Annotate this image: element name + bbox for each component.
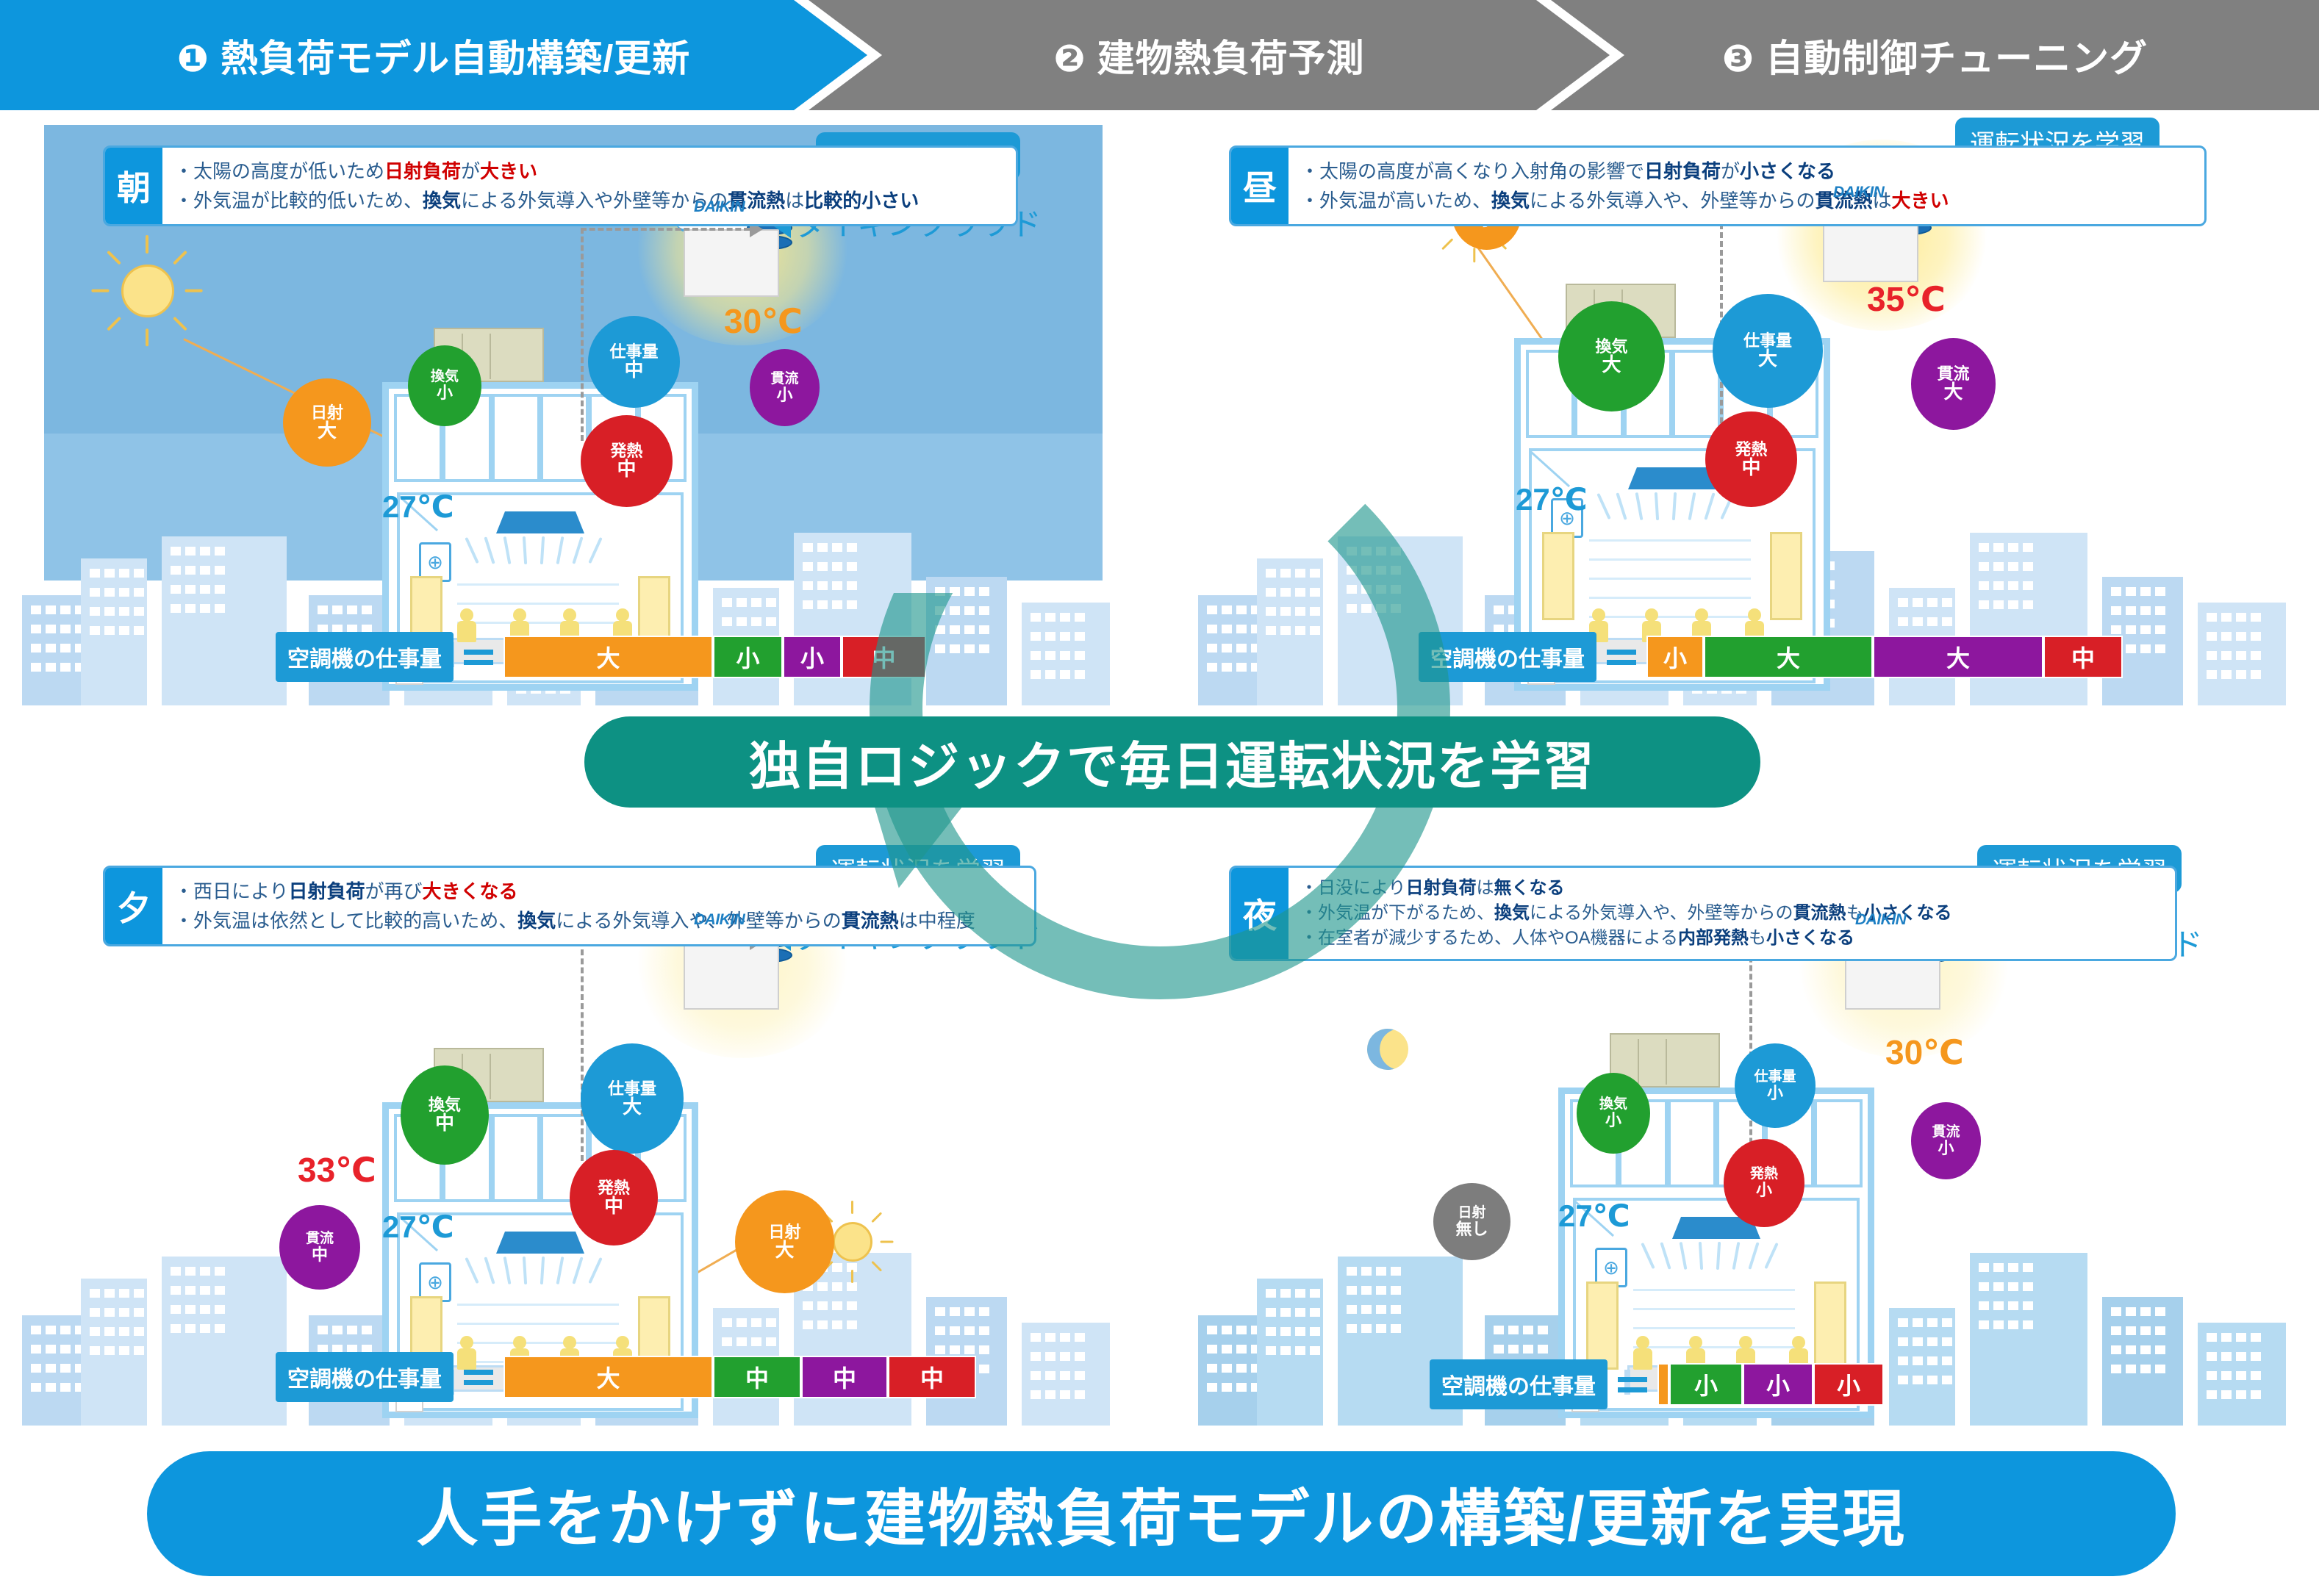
building-silhouette [81,1279,147,1426]
window-dot [134,569,144,578]
shelf-line [1589,597,1751,599]
workbar-segment: 中 [888,1356,976,1398]
window-dot [318,605,328,614]
window-dot [1361,1286,1372,1295]
outdoor-temperature: 33℃ [298,1150,376,1190]
badge-日射: 日射大 [735,1190,834,1293]
airflow-line [1596,493,1610,520]
airflow-line [484,536,495,564]
window-dot [803,562,813,571]
window-dot [2155,1307,2165,1316]
window-dot [817,1320,828,1329]
window-dot [1979,562,1989,571]
airflow-line [572,536,583,564]
window-dot [2023,543,2033,552]
window-pane [492,394,540,482]
building-silhouette [81,558,147,705]
bookshelf-icon [1589,539,1751,628]
window-dot [832,543,842,552]
window-dot [2155,625,2165,634]
window-dot [1898,1356,1908,1365]
window-dot [1979,543,1989,552]
window-dot [1347,1267,1357,1276]
window-dot [200,585,210,594]
window-dot [950,1326,960,1335]
window-dot [119,1308,129,1317]
window-dot [2207,1390,2217,1399]
window-dot [46,663,56,672]
workbar-segment: 中 [713,1356,801,1398]
person-head [1689,1336,1702,1349]
window-dot [134,1327,144,1336]
badge-仕事量: 仕事量小 [1735,1043,1816,1128]
equals-icon [458,1370,499,1385]
daikin-logo: DAIKIN [1855,911,1906,929]
description-segment: が [461,160,480,182]
window-dot [1207,1383,1217,1392]
window-dot [1266,1346,1276,1355]
window-dot [847,562,857,571]
window-dot [803,581,813,590]
window-dot [2023,1301,2033,1310]
window-dot [119,607,129,616]
description-segment: 無くなる [1494,878,1565,898]
window-dot [31,1364,41,1373]
window-dot [2111,1307,2121,1316]
window-dot [2236,613,2246,622]
badge-name: 発熱 [598,1179,630,1196]
window-dot [1993,1263,2004,1272]
window-dot [1942,617,1952,626]
window-dot [1361,1305,1372,1314]
workbar-segment: 小 [1646,636,1704,678]
description-segment: は [1477,878,1494,898]
window-dot [2126,644,2136,653]
window-dot [60,663,71,672]
window-dot [185,604,196,613]
window-dot [1207,1364,1217,1373]
window-dot [1376,1286,1386,1295]
ceiling-ac-unit-icon [496,1232,584,1254]
window-dot [90,569,100,578]
airflow-line [588,1257,602,1284]
indoor-temperature: 27℃ [382,1209,454,1245]
window-dot [722,1337,732,1346]
shelf-line [1633,1346,1795,1348]
window-dot [1295,1346,1305,1355]
window-dot [171,1267,181,1276]
window-pane [1814,1099,1863,1187]
equals-icon [1601,650,1642,665]
building-silhouette [1257,1279,1323,1426]
description-morning: ・太陽の高度が低いため日射負荷が大きい・外気温が比較的低いため、換気による外気導… [162,148,1016,224]
window-dot [2140,587,2151,596]
airflow-line [1616,492,1627,520]
window-dot [185,1267,196,1276]
window-dot [2111,1326,2121,1335]
window-dot [31,663,41,672]
window-dot [1280,1308,1291,1317]
daikin-logo: DAIKIN [1833,184,1884,201]
window-dot [2221,632,2232,641]
sun-icon [88,231,207,351]
airflow-lines-icon [470,1257,610,1286]
description-segment: が [1721,160,1740,182]
window-dot [979,1326,989,1335]
window-dot [200,1286,210,1295]
window-dot [60,1383,71,1392]
window-dot [1391,1286,1401,1295]
window-dot [2155,606,2165,615]
window-dot [185,1324,196,1333]
step-1[interactable]: ❶ 熱負荷モデル自動構築/更新 [0,0,867,110]
window-dot [200,547,210,556]
window-dot [362,605,372,614]
window-dot [1913,598,1923,607]
step-2[interactable]: ❷ 建物熱負荷予測 [809,0,1610,110]
window-dot [90,1327,100,1336]
workbar-segment: 中 [801,1356,888,1398]
description-segment: 日射負荷 [384,160,461,182]
window-dot [1347,1305,1357,1314]
airflow-line [1641,1243,1655,1269]
daikin-controller-icon [684,942,779,1010]
window-dot [2207,632,2217,641]
badge-level: 中 [312,1246,328,1263]
window-dot [1391,1267,1401,1276]
window-dot [832,1301,842,1310]
person-head [563,1336,576,1349]
window-dot [2251,651,2261,660]
description-segment: が再び [365,880,423,902]
window-dot [1361,1324,1372,1333]
window-dot [104,1308,115,1317]
window-dot [2207,670,2217,679]
window-dot [215,585,225,594]
window-dot [832,1320,842,1329]
window-dot [2207,613,2217,622]
airflow-line [1716,1242,1721,1270]
airflow-line [503,1257,512,1284]
window-dot [2236,1333,2246,1342]
window-dot [104,626,115,635]
badge-換気: 換気小 [1577,1073,1650,1154]
door-left-icon [1586,1282,1619,1370]
window-dot [1979,1263,1989,1272]
window-dot [2008,543,2018,552]
airflow-line [540,1257,545,1284]
badge-level: 小 [1767,1085,1783,1101]
description-segment: 大きい [1892,190,1949,212]
shelf-line [457,622,619,624]
description-segment: ・外気温が高いため、 [1300,190,1491,212]
badge-name: 貫流 [1937,365,1969,382]
description-segment: 小さくなる [1740,160,1835,182]
shelf-line [457,1304,619,1306]
person-head [616,1336,629,1349]
window-dot [46,605,56,614]
description-segment: 小さくなる [1766,928,1854,948]
time-badge-noon: 昼 [1231,148,1288,224]
window-dot [347,1326,357,1334]
window-dot [31,1383,41,1392]
person-head [1792,1336,1805,1349]
badge-level: 小 [1938,1140,1954,1157]
description-segment: 比較的小さい [804,190,919,212]
window-dot [2111,1345,2121,1354]
window-dot [185,1286,196,1295]
window-dot [1979,1301,1989,1310]
person-head [460,1336,473,1349]
window-dot [1942,598,1952,607]
airflow-line [523,1257,527,1284]
window-dot [1280,1327,1291,1336]
window-dot [722,598,732,607]
window-dot [90,1308,100,1317]
window-dot [1927,1337,1938,1346]
window-dot [2140,1365,2151,1373]
center-banner-label: 独自ロジックで毎日運転状況を学習 [749,725,1596,799]
description-segment: は [785,190,804,212]
window-dot [2221,613,2232,622]
badge-level: 小 [776,387,792,403]
time-badge-morning: 朝 [105,148,162,224]
window-dot [46,625,56,633]
window-dot [2236,1352,2246,1361]
window-dot [2236,1390,2246,1399]
window-dot [1347,1286,1357,1295]
window-dot [215,604,225,613]
dashed-vertical [581,941,584,1161]
badge-発熱: 発熱中 [1705,411,1797,507]
window-dot [215,1286,225,1295]
airflow-line [1688,492,1696,520]
window-dot [1376,1267,1386,1276]
window-dot [90,1289,100,1298]
window-dot [1538,1326,1548,1334]
person-head [616,608,629,622]
window-dot [60,1326,71,1334]
window-dot [104,569,115,578]
window-dot [2111,587,2121,596]
window-dot [1898,617,1908,626]
window-dot [1913,1318,1923,1327]
badge-日射: 日射大 [283,378,371,467]
outdoor-temperature: 30℃ [724,301,803,341]
building-silhouette [1022,1323,1110,1426]
window-dot [935,1326,945,1335]
description-line: ・太陽の高度が高くなり入射角の影響で日射負荷が小さくなる [1300,157,2193,186]
shelf-line [1633,1327,1795,1329]
window-dot [1207,1345,1217,1354]
process-step-banner: ❶ 熱負荷モデル自動構築/更新 ❷ 建物熱負荷予測 ❸ 自動制御チューニング [0,0,2319,110]
window-dot [2126,587,2136,596]
window-dot [104,607,115,616]
workbar-segment: 小 [1743,1363,1813,1406]
window-dot [847,1301,857,1310]
description-segment: 内部発熱 [1678,928,1749,948]
window-dot [1031,1352,1041,1361]
badge-name: 貫流 [770,372,798,387]
window-dot [2155,1345,2165,1354]
window-dot [1523,1345,1533,1354]
window-dot [134,1308,144,1317]
description-segment: 日射負荷 [1644,160,1721,182]
window-dot [318,1326,328,1334]
window-dot [2251,670,2261,679]
badge-level: 中 [617,459,636,479]
footer-label: 人手をかけずに建物熱負荷モデルの構築/更新を実現 [416,1470,1906,1559]
window-dot [1031,1333,1041,1342]
window-dot [1045,1352,1055,1361]
window-dot [1236,1345,1247,1354]
badge-貫流: 貫流中 [279,1205,360,1290]
window-dot [1075,1352,1085,1361]
window-dot [200,1305,210,1314]
window-dot [171,1305,181,1314]
badge-換気: 換気小 [408,345,481,426]
window-dot [803,1301,813,1310]
window-dot [2140,1326,2151,1335]
workbar-700: 空調機の仕事量小大大中 [1419,632,2123,682]
window-dot [31,605,41,614]
window-dot [1310,1327,1320,1336]
description-segment: による外気導入や、外壁等からの [1530,190,1815,212]
person-head [1592,608,1605,622]
airflow-line [1699,1242,1703,1270]
shelf-line [457,1342,619,1344]
airflow-line [1704,492,1715,520]
workbar-segment: 大 [503,636,713,678]
window-dot [119,569,129,578]
window-dot [2221,1390,2232,1399]
window-dot [1913,1337,1923,1346]
window-dot [1045,1390,1055,1399]
badge-発熱: 発熱小 [1724,1139,1804,1227]
window-dot [185,1305,196,1314]
window-dot [935,1307,945,1316]
description-segment: 貫流熱 [1793,903,1846,923]
window-dot [766,1337,776,1346]
window-dot [2140,644,2151,653]
window-dot [104,588,115,597]
window-dot [736,1318,747,1327]
window-dot [46,1345,56,1354]
window-dot [185,547,196,556]
shelf-line [457,583,619,586]
badge-level: 小 [437,384,453,401]
window-dot [832,600,842,609]
workbar-segment: 大 [503,1356,713,1398]
window-dot [171,604,181,613]
daikin-logo: DAIKIN [694,911,745,929]
person-head [563,608,576,622]
window-dot [2251,632,2261,641]
workbar-segment: 大 [1873,636,2043,678]
window-dot [1993,1301,2004,1310]
step-3-label: ❸ 自動制御チューニング [1722,28,2148,82]
outdoor-temperature: 35℃ [1867,279,1946,319]
airflow-lines-icon [1602,492,1742,522]
window-dot [104,1289,115,1298]
window-dot [1391,1324,1401,1333]
window-dot [1075,1371,1085,1380]
center-banner: 独自ロジックで毎日運転状況を学習 [584,716,1760,808]
shelf-line [457,1323,619,1325]
window-dot [1222,1326,1232,1334]
window-dot [2023,1282,2033,1291]
description-segment: 換気 [423,190,461,212]
window-dot [817,1301,828,1310]
badge-level: 大 [775,1240,794,1260]
window-dot [722,1318,732,1327]
window-dot [1031,1390,1041,1399]
window-dot [1347,1324,1357,1333]
indoor-temperature: 27℃ [382,489,454,525]
window-dot [1310,1308,1320,1317]
window-dot [1075,1333,1085,1342]
badge-level: 大 [1758,349,1777,369]
window-dot [1295,1289,1305,1298]
window-dot [2008,562,2018,571]
window-dot [1060,1352,1070,1361]
window-dot [1898,1376,1908,1384]
window-dot [119,626,129,635]
window-dot [60,1345,71,1354]
ceiling-ac-unit-icon [496,511,584,533]
window-dot [2023,581,2033,590]
window-dot [817,562,828,571]
window-dot [1927,598,1938,607]
window-dot [185,585,196,594]
description-segment: 換気 [1491,190,1530,212]
time-badge-evening: 夕 [105,868,162,944]
equals-icon [1612,1377,1653,1392]
window-dot [215,566,225,575]
window-dot [200,1267,210,1276]
window-dot [171,1324,181,1333]
window-dot [171,547,181,556]
window-dot [2155,1365,2165,1373]
window-dot [31,625,41,633]
window-dot [134,1346,144,1355]
window-dot [1266,1308,1276,1317]
building-silhouette [1970,1253,2087,1426]
window-dot [847,581,857,590]
window-dot [1538,1345,1548,1354]
window-dot [60,1364,71,1373]
window-dot [134,607,144,616]
window-dot [1942,1376,1952,1384]
window-dot [1508,1326,1519,1334]
description-segment: 換気 [1494,903,1530,923]
window-dot [751,1337,761,1346]
window-dot [1295,1327,1305,1336]
window-dot [2221,1333,2232,1342]
window-dot [2126,625,2136,634]
workbar-segment: 小 [783,636,842,678]
step-1-label: ❶ 熱負荷モデル自動構築/更新 [177,28,691,82]
badge-name: 発熱 [1750,1167,1778,1182]
window-dot [2023,600,2033,609]
airflow-line [556,536,564,564]
building-silhouette [162,536,287,705]
description-segment: ・西日により [174,880,288,902]
step-3[interactable]: ❸ 自動制御チューニング [1551,0,2319,110]
description-segment: ・太陽の高度が高くなり入射角の影響で [1300,160,1644,182]
timebox-noon: 昼 ・太陽の高度が高くなり入射角の影響で日射負荷が小さくなる・外気温が高いため、… [1229,145,2207,226]
window-dot [46,1326,56,1334]
